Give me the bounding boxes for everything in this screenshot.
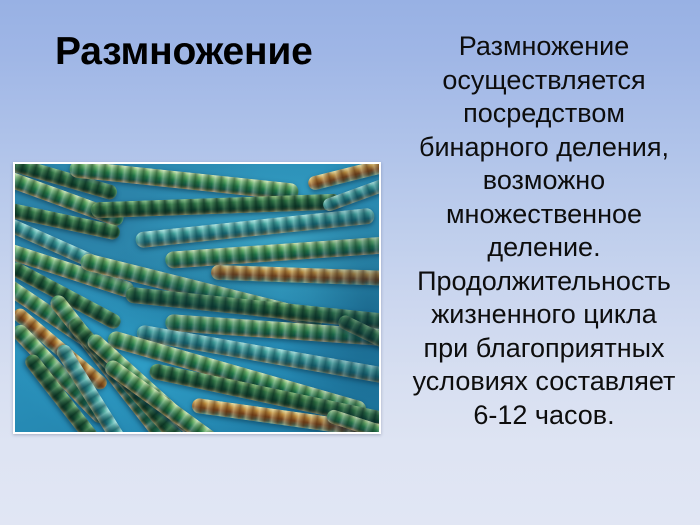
cyanobacteria-micrograph-image xyxy=(15,164,379,432)
body-line: Размножение xyxy=(392,30,696,64)
body-line: бинарного деления, xyxy=(392,131,696,165)
body-line: множественное xyxy=(392,198,696,232)
presentation-slide: Размножение xyxy=(0,0,700,525)
body-line: 6-12 часов. xyxy=(392,399,696,433)
page-title: Размножение xyxy=(55,32,313,71)
body-line: осуществляется xyxy=(392,64,696,98)
body-line: жизненного цикла xyxy=(392,298,696,332)
micrograph-depth-shading xyxy=(15,164,379,432)
body-line: возможно xyxy=(392,164,696,198)
body-line: деление. xyxy=(392,231,696,265)
body-line: при благоприятных xyxy=(392,332,696,366)
body-line: посредством xyxy=(392,97,696,131)
body-line: условиях составляет xyxy=(392,365,696,399)
body-line: Продолжительность xyxy=(392,265,696,299)
photo-frame xyxy=(13,162,381,434)
body-text-block: Размножение осуществляется посредством б… xyxy=(392,30,696,432)
